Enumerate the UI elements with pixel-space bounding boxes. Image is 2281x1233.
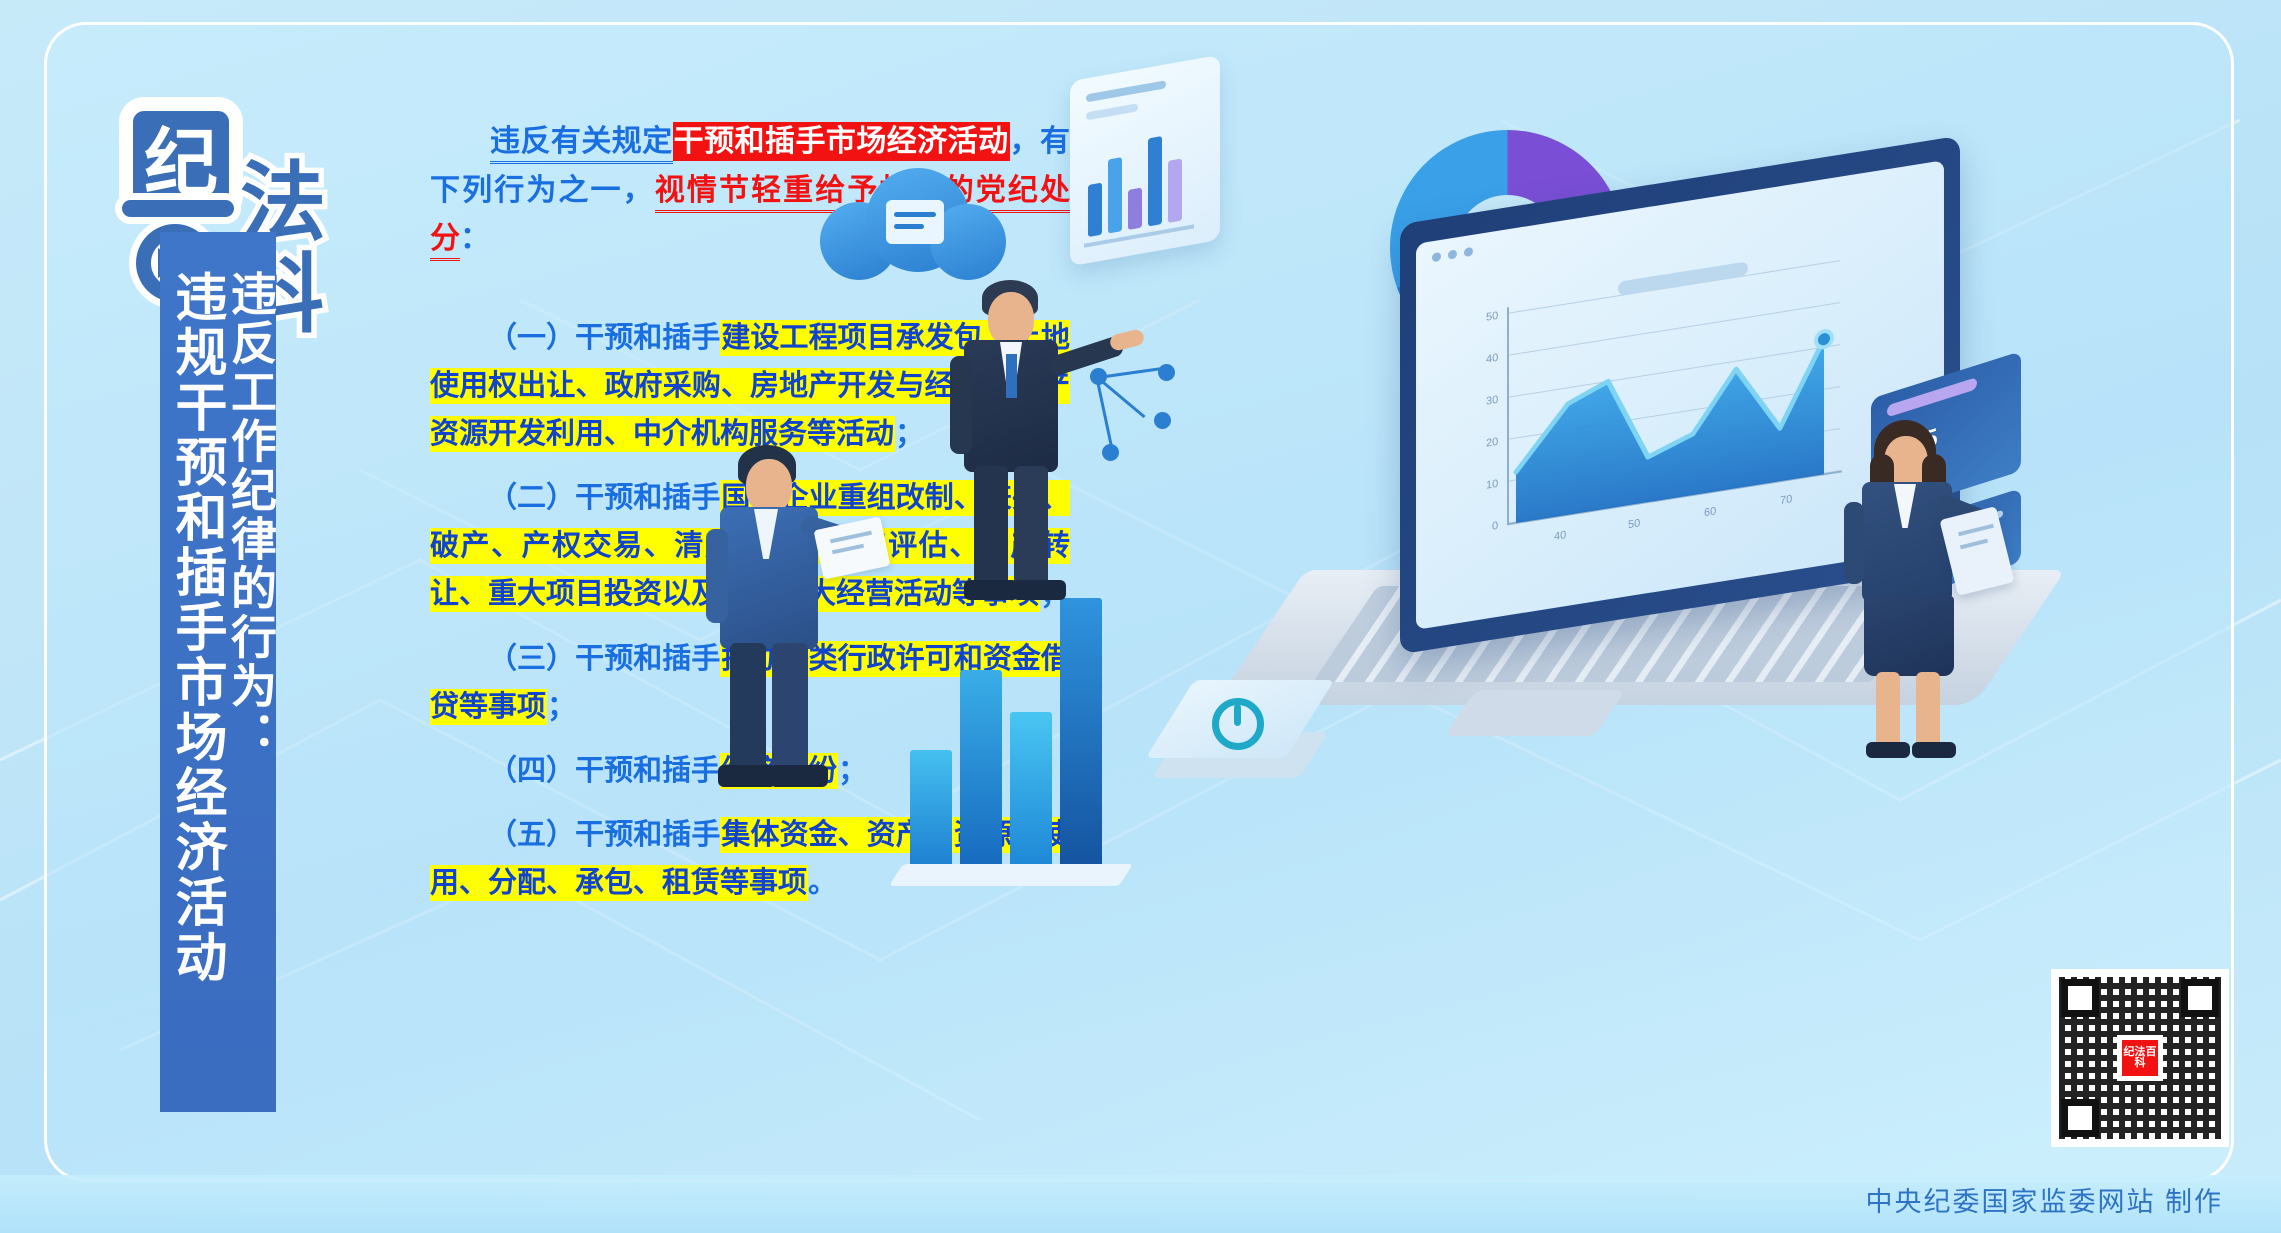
lead-segment-5: ：	[460, 221, 490, 256]
logo-char-ji-box: 纪	[128, 106, 234, 212]
shield-cube-icon	[1150, 680, 1330, 800]
svg-text:10: 10	[1486, 478, 1498, 492]
list-item-tail: 。	[808, 867, 837, 899]
qr-finder-top-left	[2061, 979, 2099, 1017]
window-dot-3	[1464, 247, 1473, 257]
qr-code[interactable]: 纪法百科	[2051, 969, 2229, 1147]
list-item-plain: 干预和插手	[575, 322, 720, 354]
list-item-tail: ；	[547, 691, 576, 723]
window-dot-1	[1432, 252, 1441, 262]
laptop-trackpad	[1444, 690, 1625, 736]
vertical-title-topic: 违规干预和插手市场经济活动	[170, 270, 223, 985]
list-item-number: （三）	[488, 643, 575, 675]
area-chart: 50 40 30 20 10 0 40 50 60 70	[1468, 238, 1858, 600]
svg-text:70: 70	[1780, 493, 1792, 507]
qr-center-logo-holder: 纪法百科	[2117, 1035, 2163, 1081]
svg-text:0: 0	[1492, 520, 1498, 533]
list-item-plain: 干预和插手	[575, 819, 720, 851]
list-item-number: （四）	[488, 755, 575, 787]
logo-bai-top-stroke	[122, 200, 234, 217]
qr-center-logo: 纪法百科	[2122, 1040, 2158, 1076]
window-dot-2	[1448, 249, 1457, 259]
bar-chart-widget-icon	[1070, 55, 1220, 266]
svg-text:40: 40	[1554, 529, 1566, 543]
vertical-title-subject: 违反工作纪律的行为：	[227, 270, 274, 760]
list-item-number: （二）	[488, 482, 575, 514]
svg-text:20: 20	[1486, 436, 1498, 450]
svg-text:50: 50	[1628, 517, 1640, 531]
qr-finder-bottom-left	[2061, 1099, 2099, 1137]
cloud-document-icon	[820, 160, 1010, 280]
logo-char-ji: 纪	[144, 103, 218, 210]
woman-with-tablet	[1830, 420, 2020, 760]
lead-segment-1: 违反有关规定	[490, 124, 673, 164]
svg-text:60: 60	[1704, 505, 1716, 519]
qr-finder-top-right	[2181, 979, 2219, 1017]
list-item-number: （一）	[488, 322, 575, 354]
infographic-canvas: 纪 法 科 违反工作纪律的行为： 违规干预和插手市场经济活动 违反有关规定干预和…	[0, 0, 2281, 1233]
svg-text:50: 50	[1486, 310, 1498, 324]
vertical-title-group: 违反工作纪律的行为： 违规干预和插手市场经济活动	[170, 270, 274, 985]
svg-text:40: 40	[1486, 352, 1498, 366]
area-chart-svg: 50 40 30 20 10 0 40 50 60 70	[1468, 238, 1858, 600]
analyst-writing	[690, 445, 880, 795]
svg-text:30: 30	[1486, 394, 1498, 408]
list-item-number: （五）	[488, 819, 575, 851]
presenter-pointing	[930, 280, 1120, 610]
credit-text: 中央纪委国家监委网站 制作	[1865, 1180, 2223, 1219]
lead-segment-2: 干预和插手市场经济活动	[673, 122, 1010, 161]
list-item-tail: ；	[895, 418, 924, 450]
